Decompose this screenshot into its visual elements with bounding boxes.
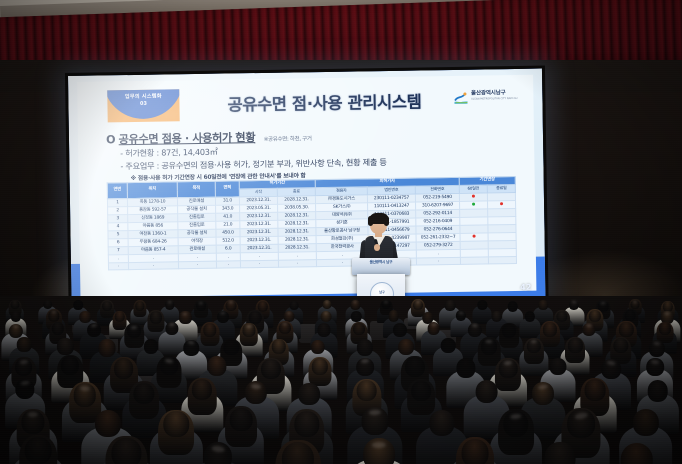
heading-text: 공유수면 점용 · 사용허가 현황: [119, 131, 256, 146]
audience-member-head: [462, 439, 489, 464]
audience-member-head: [619, 322, 633, 337]
audience-member-head: [398, 339, 414, 355]
presentation-slide: 업무의 시스템화 03 공유수면 점·사용 관리시스템: [68, 69, 546, 306]
logo-mark-icon: [453, 90, 468, 103]
audience-member-head: [61, 356, 79, 375]
audience-member-head: [356, 380, 377, 401]
audience-member-head: [318, 323, 331, 337]
audience-member-head: [388, 310, 399, 321]
auditorium-photo: 업무의 시스템화 03 공유수면 점·사용 관리시스템: [0, 0, 682, 464]
logo-sub-text: ULSAN METROPOLITAN CITY NAM-GU: [471, 97, 517, 100]
th-purpose: 목적: [177, 181, 215, 197]
audience-member-head: [351, 311, 361, 322]
audience-member-head: [311, 340, 325, 355]
audience-member-head: [114, 358, 134, 378]
slide-page-number: 42: [520, 283, 531, 292]
audience-member-head: [230, 408, 253, 431]
audience-member-head: [491, 311, 502, 322]
audience-member-head: [589, 310, 601, 323]
audience-member-head: [203, 323, 216, 337]
th-location: 위치: [127, 182, 177, 198]
permit-table: 연번 위치 목적 면적 허가기간 피허가자 기간연장 시작 종료: [107, 176, 517, 271]
audience-member-highlight: [372, 441, 386, 448]
audience-member-head: [545, 442, 576, 464]
audience-member-head: [549, 358, 566, 376]
audience-member-head: [441, 338, 456, 353]
audience-member-highlight: [80, 385, 90, 390]
speaker-hand: [374, 244, 380, 251]
audience: [0, 296, 682, 464]
audience-member-head: [542, 322, 556, 337]
audience-member-head: [585, 379, 606, 401]
cell-start: .: [240, 260, 278, 268]
table-body: 1옥동 1278-10진로매설31.02023.12.31.2028.12.31…: [107, 192, 516, 270]
cell-no: 1: [107, 198, 127, 207]
audience-member-head: [144, 339, 158, 354]
audience-member-head: [95, 410, 121, 437]
audience-member-head: [429, 410, 454, 436]
audience-member-head: [568, 338, 582, 353]
audience-member: [610, 441, 663, 464]
cell-no: 6: [108, 238, 128, 247]
status-dot-green: [472, 202, 475, 205]
audience-member-head: [412, 381, 432, 401]
th-area: 면적: [215, 181, 239, 197]
audience-member-head: [43, 300, 52, 310]
audience-member-head: [475, 380, 498, 404]
cell-location: .: [128, 261, 178, 270]
audience-member-head: [613, 338, 628, 354]
audience-member-highlight: [459, 311, 464, 314]
audience-member: [195, 441, 241, 464]
heading-note: ※공유수면: 하천, 구거: [264, 136, 312, 143]
slide-content-area: 업무의 시스템화 03 공유수면 점·사용 관리시스템: [77, 75, 536, 298]
audience-member-head: [10, 300, 19, 309]
audience-member-head: [625, 310, 636, 321]
audience-member-head: [405, 357, 425, 378]
audience-member-head: [135, 301, 144, 311]
audience-member-head: [507, 301, 518, 312]
audience-member-head: [134, 383, 155, 405]
audience-member-highlight: [323, 311, 328, 314]
speaker-hair-side-left: [368, 216, 373, 226]
audience-member-head: [150, 311, 162, 324]
audience-member-head: [353, 323, 365, 335]
audience-member-head: [11, 311, 21, 322]
audience-member-highlight: [325, 301, 329, 303]
audience-member-head: [25, 437, 52, 464]
cell-purpose: .: [178, 261, 216, 269]
audience-member: [453, 437, 497, 464]
audience-member-head: [356, 339, 372, 356]
podium-sign-text: 울산광역시 남구: [352, 260, 410, 265]
audience-member: [156, 410, 198, 464]
audience-member-head: [224, 340, 239, 356]
audience-member-head: [525, 311, 535, 322]
audience-member-head: [112, 438, 141, 464]
audience-member-head: [164, 411, 189, 437]
audience-member-head: [457, 358, 476, 378]
audience-member-head: [17, 337, 32, 352]
slide-bullet-1: - 허가현황 : 87건, 14,403㎡: [120, 146, 218, 160]
audience-member: [16, 435, 60, 464]
section-badge: 업무의 시스템화 03: [107, 89, 179, 122]
audience-member-head: [272, 339, 286, 354]
slide-heading: O 공유수면 점용 · 사용허가 현황 ※공유수면: 하천, 구거: [106, 128, 312, 147]
badge-line1: 업무의 시스템화: [107, 94, 179, 100]
audience-member-head: [51, 322, 63, 335]
cell-extension-60day: [460, 256, 488, 264]
audience-member-head: [621, 443, 653, 464]
audience-member-highlight: [167, 301, 171, 303]
audience-member-head: [298, 383, 320, 405]
audience-member: [103, 436, 151, 464]
audience-member: [495, 409, 537, 464]
cell-area: .: [216, 260, 240, 268]
audience-member-head: [99, 339, 116, 356]
audience-member-head: [74, 300, 84, 310]
status-dot-red: [472, 194, 475, 197]
cell-tel: .: [416, 257, 460, 266]
audience-member-head: [659, 322, 671, 334]
audience-member-head: [648, 380, 669, 401]
audience-member-head: [192, 379, 212, 400]
audience-member: [353, 436, 405, 464]
slide-title: 공유수면 점·사용 관리시스템: [189, 88, 459, 116]
th-no: 연번: [107, 183, 127, 199]
cell-no: 2: [108, 206, 128, 215]
audience-member-head: [294, 411, 319, 437]
cell-no: .: [108, 262, 128, 270]
audience-member-head: [57, 338, 73, 355]
cell-extension-enddate: [488, 256, 516, 264]
audience-member-head: [114, 311, 125, 322]
status-dot-red: [472, 234, 475, 237]
audience-member-head: [102, 301, 112, 311]
audience-member-head: [502, 324, 516, 338]
speaker-hair-side-right: [384, 216, 389, 226]
audience-member-head: [539, 300, 549, 310]
audience-member: [272, 440, 325, 464]
audience-member-head: [290, 301, 299, 310]
cell-end: .: [278, 259, 316, 267]
audience-member-highlight: [246, 325, 252, 328]
audience-member-head: [478, 300, 487, 310]
audience-member-head: [208, 356, 227, 376]
status-dot-red: [500, 202, 503, 205]
audience-member: [535, 441, 586, 464]
projection-screen: 업무의 시스템화 03 공유수면 점·사용 관리시스템: [68, 69, 546, 306]
organization-logo: 울산광역시남구 ULSAN METROPOLITAN CITY NAM-GU: [453, 89, 518, 103]
heading-marker: O: [106, 133, 115, 146]
audience-member-head: [393, 323, 407, 338]
audience-member-head: [633, 409, 659, 436]
podium-seal-text: 남구: [371, 290, 393, 294]
audience-member-head: [261, 359, 281, 380]
audience-member-highlight: [19, 359, 27, 364]
audience-member-highlight: [633, 300, 637, 302]
audience-member-head: [312, 358, 328, 375]
